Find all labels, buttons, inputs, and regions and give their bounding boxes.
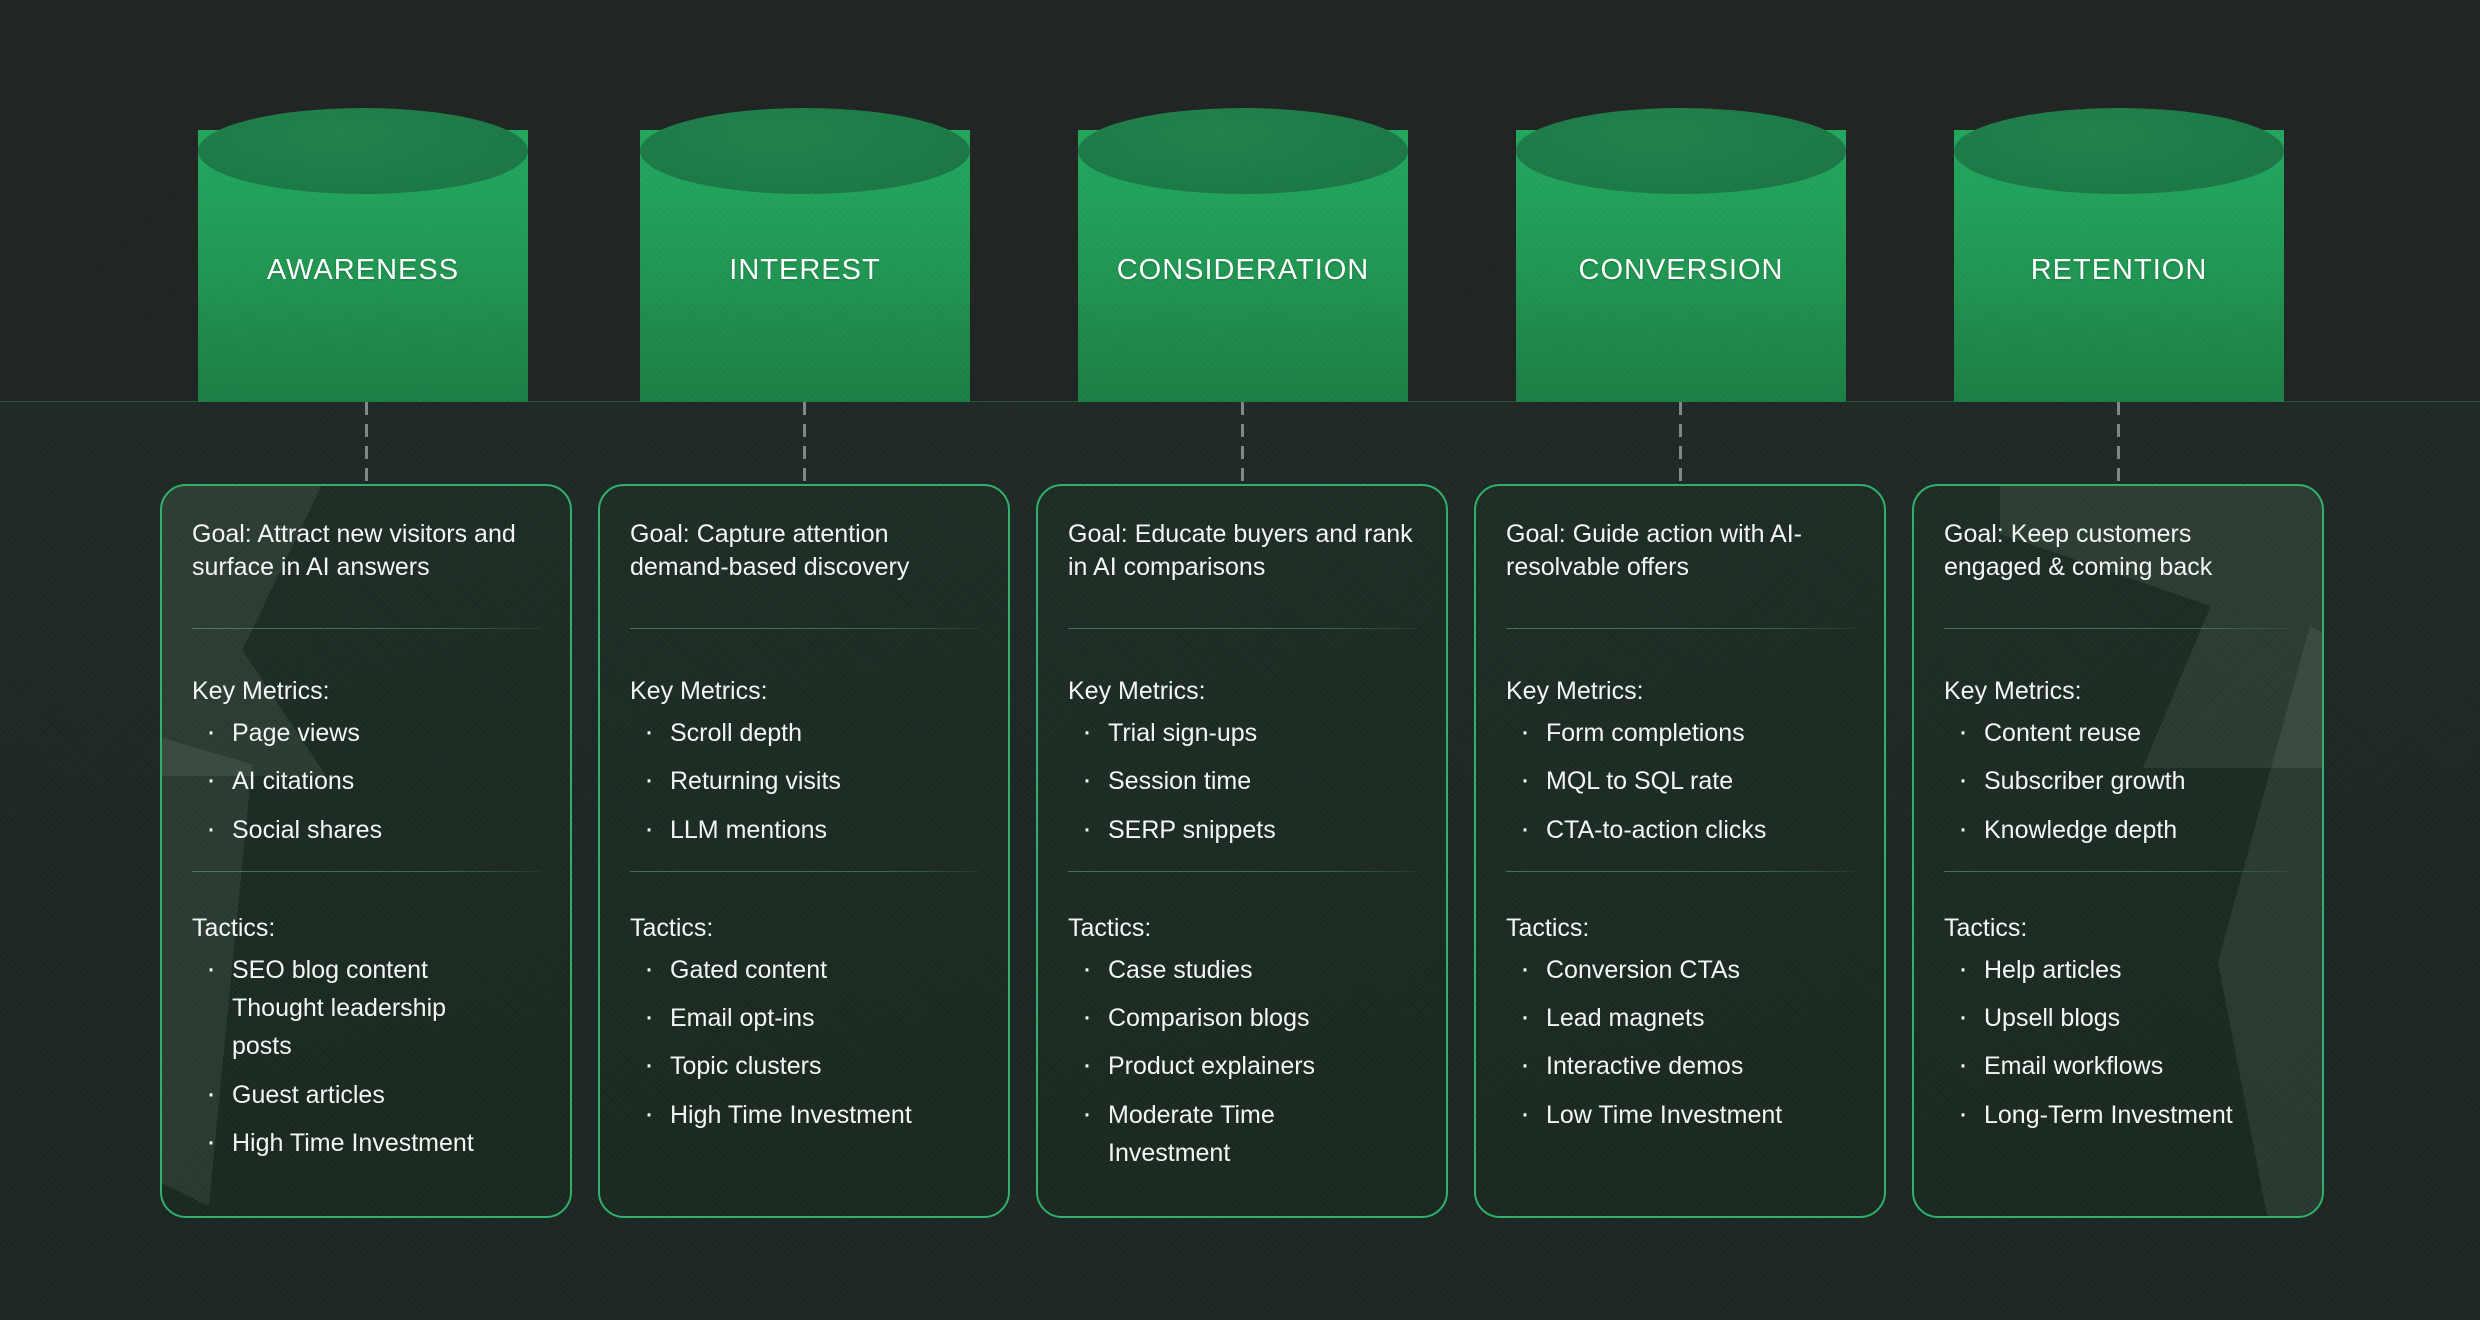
tactics-heading: Tactics: xyxy=(1944,914,2292,943)
list-item: Lead magnets xyxy=(1506,1003,1854,1033)
list-item-label: Guest articles xyxy=(232,1081,385,1109)
connector-consideration xyxy=(1241,402,1244,484)
tactics-list: Help articlesUpsell blogsEmail workflows… xyxy=(1944,955,2292,1130)
list-item: Scroll depth xyxy=(630,718,978,748)
list-item-label: Session time xyxy=(1108,767,1251,795)
stage-goal-conversion: Goal: Guide action with AI-resolvable of… xyxy=(1506,518,1854,604)
list-item: Content reuse xyxy=(1944,718,2292,748)
list-item: Long-Term Investment xyxy=(1944,1100,2292,1130)
divider xyxy=(630,628,978,629)
list-item-label: Long-Term Investment xyxy=(1984,1101,2233,1129)
list-item-label: Form completions xyxy=(1546,719,1745,747)
list-item: Thought leadership xyxy=(192,993,540,1023)
key-metrics-list: Trial sign-upsSession timeSERP snippets xyxy=(1068,718,1416,845)
list-item: Returning visits xyxy=(630,766,978,796)
divider xyxy=(1506,628,1854,629)
list-item: Guest articles xyxy=(192,1080,540,1110)
list-item: Email workflows xyxy=(1944,1051,2292,1081)
list-item: Topic clusters xyxy=(630,1051,978,1081)
list-item: Page views xyxy=(192,718,540,748)
key-metrics-list: Scroll depthReturning visitsLLM mentions xyxy=(630,718,978,845)
tactics-list: SEO blog contentThought leadershippostsG… xyxy=(192,955,540,1158)
list-item-label: Content reuse xyxy=(1984,719,2141,747)
list-item: Session time xyxy=(1068,766,1416,796)
list-item-label: AI citations xyxy=(232,767,354,795)
divider xyxy=(192,871,540,872)
connector-interest xyxy=(803,402,806,484)
list-item: Comparison blogs xyxy=(1068,1003,1416,1033)
list-item: CTA-to-action clicks xyxy=(1506,815,1854,845)
list-item: Upsell blogs xyxy=(1944,1003,2292,1033)
list-item: Gated content xyxy=(630,955,978,985)
stage-card-conversion[interactable]: Goal: Guide action with AI-resolvable of… xyxy=(1474,484,1886,1218)
list-item-label: Email opt-ins xyxy=(670,1004,815,1032)
divider xyxy=(1068,628,1416,629)
list-item-label: Topic clusters xyxy=(670,1052,821,1080)
stage-goal-awareness: Goal: Attract new visitors and surface i… xyxy=(192,518,540,604)
tactics-heading: Tactics: xyxy=(1068,914,1416,943)
tactics-list: Gated contentEmail opt-insTopic clusters… xyxy=(630,955,978,1130)
list-item-label: Thought leadership xyxy=(232,994,446,1022)
tactics-heading: Tactics: xyxy=(192,914,540,943)
list-item-label: Trial sign-ups xyxy=(1108,719,1257,747)
list-item-label: SEO blog content xyxy=(232,956,428,984)
list-item-label: High Time Investment xyxy=(670,1101,912,1129)
list-item-label: Lead magnets xyxy=(1546,1004,1704,1032)
connector-retention xyxy=(2117,402,2120,484)
list-item: MQL to SQL rate xyxy=(1506,766,1854,796)
list-item: Conversion CTAs xyxy=(1506,955,1854,985)
list-item: Subscriber growth xyxy=(1944,766,2292,796)
list-item: Low Time Investment xyxy=(1506,1100,1854,1130)
list-item-label: posts xyxy=(232,1032,292,1060)
divider xyxy=(1944,628,2292,629)
list-item: Moderate Time xyxy=(1068,1100,1416,1130)
list-item: Trial sign-ups xyxy=(1068,718,1416,748)
list-item: Case studies xyxy=(1068,955,1416,985)
key-metrics-heading: Key Metrics: xyxy=(1068,677,1416,706)
list-item-label: CTA-to-action clicks xyxy=(1546,816,1766,844)
list-item-label: Low Time Investment xyxy=(1546,1101,1782,1129)
list-item-label: Subscriber growth xyxy=(1984,767,2185,795)
divider xyxy=(1068,871,1416,872)
list-item-label: Product explainers xyxy=(1108,1052,1315,1080)
connector-awareness xyxy=(365,402,368,484)
stage-card-consideration[interactable]: Goal: Educate buyers and rank in AI comp… xyxy=(1036,484,1448,1218)
list-item-label: Help articles xyxy=(1984,956,2122,984)
stage-goal-interest: Goal: Capture attention demand-based dis… xyxy=(630,518,978,604)
list-item-label: Scroll depth xyxy=(670,719,802,747)
list-item: posts xyxy=(192,1031,540,1061)
list-item-label: Interactive demos xyxy=(1546,1052,1743,1080)
stage-goal-retention: Goal: Keep customers engaged & coming ba… xyxy=(1944,518,2292,604)
list-item: Form completions xyxy=(1506,718,1854,748)
stage-card-retention[interactable]: Goal: Keep customers engaged & coming ba… xyxy=(1912,484,2324,1218)
list-item: LLM mentions xyxy=(630,815,978,845)
list-item-label: Moderate Time xyxy=(1108,1101,1275,1129)
tactics-heading: Tactics: xyxy=(630,914,978,943)
list-item-label: Social shares xyxy=(232,816,382,844)
list-item-label: Returning visits xyxy=(670,767,841,795)
list-item-label: Gated content xyxy=(670,956,827,984)
key-metrics-heading: Key Metrics: xyxy=(630,677,978,706)
divider xyxy=(1506,871,1854,872)
divider xyxy=(192,628,540,629)
tactics-list: Case studiesComparison blogsProduct expl… xyxy=(1068,955,1416,1168)
divider xyxy=(630,871,978,872)
list-item: SEO blog content xyxy=(192,955,540,985)
list-item: Help articles xyxy=(1944,955,2292,985)
key-metrics-list: Content reuseSubscriber growthKnowledge … xyxy=(1944,718,2292,845)
funnel-diagram: AWARENESSINTERESTCONSIDERATIONCONVERSION… xyxy=(0,0,2480,1320)
key-metrics-heading: Key Metrics: xyxy=(1944,677,2292,706)
list-item: High Time Investment xyxy=(630,1100,978,1130)
list-item: Interactive demos xyxy=(1506,1051,1854,1081)
list-item-label: Investment xyxy=(1108,1139,1230,1167)
stage-goal-consideration: Goal: Educate buyers and rank in AI comp… xyxy=(1068,518,1416,604)
tactics-list: Conversion CTAsLead magnetsInteractive d… xyxy=(1506,955,1854,1130)
list-item: High Time Investment xyxy=(192,1128,540,1158)
list-item-label: Knowledge depth xyxy=(1984,816,2177,844)
tactics-heading: Tactics: xyxy=(1506,914,1854,943)
list-item-label: LLM mentions xyxy=(670,816,827,844)
key-metrics-list: Form completionsMQL to SQL rateCTA-to-ac… xyxy=(1506,718,1854,845)
list-item-label: SERP snippets xyxy=(1108,816,1276,844)
list-item-label: High Time Investment xyxy=(232,1129,474,1157)
list-item: Social shares xyxy=(192,815,540,845)
key-metrics-list: Page viewsAI citationsSocial shares xyxy=(192,718,540,845)
list-item-label: Email workflows xyxy=(1984,1052,2163,1080)
stage-cards: Goal: Attract new visitors and surface i… xyxy=(0,0,2480,1320)
divider xyxy=(1944,871,2292,872)
list-item: Email opt-ins xyxy=(630,1003,978,1033)
list-item: Investment xyxy=(1068,1138,1416,1168)
list-item-label: Conversion CTAs xyxy=(1546,956,1740,984)
list-item-label: MQL to SQL rate xyxy=(1546,767,1733,795)
key-metrics-heading: Key Metrics: xyxy=(1506,677,1854,706)
list-item-label: Page views xyxy=(232,719,360,747)
list-item-label: Case studies xyxy=(1108,956,1253,984)
key-metrics-heading: Key Metrics: xyxy=(192,677,540,706)
list-item: SERP snippets xyxy=(1068,815,1416,845)
list-item: Knowledge depth xyxy=(1944,815,2292,845)
list-item: Product explainers xyxy=(1068,1051,1416,1081)
list-item-label: Comparison blogs xyxy=(1108,1004,1310,1032)
list-item: AI citations xyxy=(192,766,540,796)
connector-conversion xyxy=(1679,402,1682,484)
stage-card-interest[interactable]: Goal: Capture attention demand-based dis… xyxy=(598,484,1010,1218)
stage-card-awareness[interactable]: Goal: Attract new visitors and surface i… xyxy=(160,484,572,1218)
list-item-label: Upsell blogs xyxy=(1984,1004,2120,1032)
